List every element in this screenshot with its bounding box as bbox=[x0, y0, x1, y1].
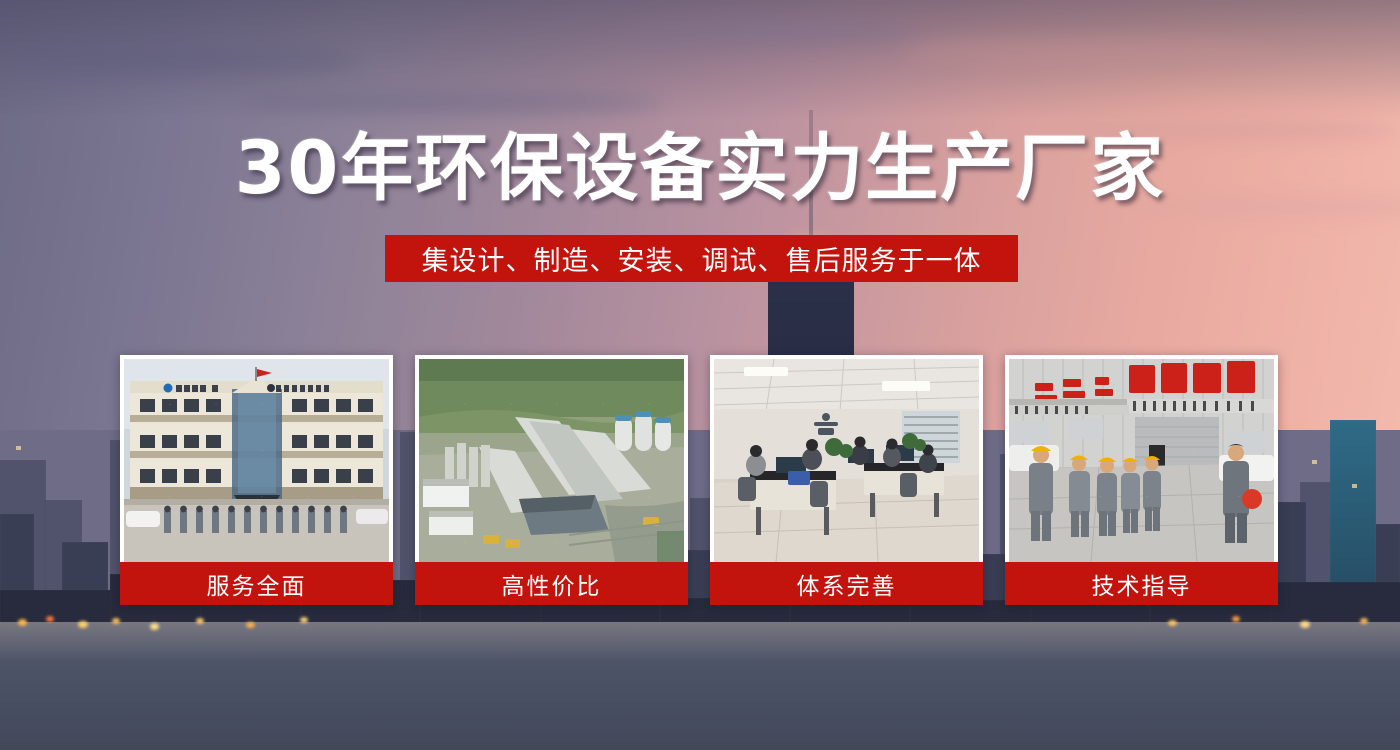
feature-card-label-text: 高性价比 bbox=[502, 567, 602, 601]
feature-card-label: 技术指导 bbox=[1005, 562, 1278, 605]
feature-card-list: 服务全面 bbox=[120, 355, 1278, 605]
bank-light bbox=[150, 623, 159, 630]
feature-card[interactable]: 技术指导 bbox=[1005, 355, 1278, 605]
bank-light bbox=[18, 619, 27, 626]
feature-card-label: 服务全面 bbox=[120, 562, 393, 605]
bank-light bbox=[78, 621, 88, 628]
feature-card[interactable]: 服务全面 bbox=[120, 355, 393, 605]
bank-light bbox=[196, 618, 204, 624]
production-plant-aerial-photo bbox=[419, 359, 684, 562]
subtitle-text: 集设计、制造、安装、调试、售后服务于一体 bbox=[422, 239, 982, 278]
feature-card[interactable]: 高性价比 bbox=[415, 355, 688, 605]
company-headquarters-photo bbox=[124, 359, 389, 562]
feature-card-label-text: 服务全面 bbox=[207, 567, 307, 601]
feature-card-label: 体系完善 bbox=[710, 562, 983, 605]
bank-light bbox=[246, 622, 255, 628]
feature-card-label-text: 体系完善 bbox=[797, 567, 897, 601]
feature-card[interactable]: 体系完善 bbox=[710, 355, 983, 605]
bank-light bbox=[46, 616, 54, 622]
bank-light bbox=[1168, 620, 1177, 626]
page-title: 30年环保设备实力生产厂家 bbox=[0, 132, 1400, 205]
subtitle-banner: 集设计、制造、安装、调试、售后服务于一体 bbox=[385, 235, 1018, 282]
bank-light bbox=[1360, 618, 1368, 624]
office-interior-photo bbox=[714, 359, 979, 562]
feature-card-label: 高性价比 bbox=[415, 562, 688, 605]
bank-light bbox=[112, 618, 120, 624]
bank-light bbox=[300, 617, 308, 623]
promotional-banner: 30年环保设备实力生产厂家 集设计、制造、安装、调试、售后服务于一体 bbox=[0, 0, 1400, 750]
feature-card-label-text: 技术指导 bbox=[1092, 567, 1192, 601]
bank-light bbox=[1300, 621, 1310, 628]
bank-light bbox=[1232, 616, 1240, 622]
factory-workers-training-photo bbox=[1009, 359, 1274, 562]
